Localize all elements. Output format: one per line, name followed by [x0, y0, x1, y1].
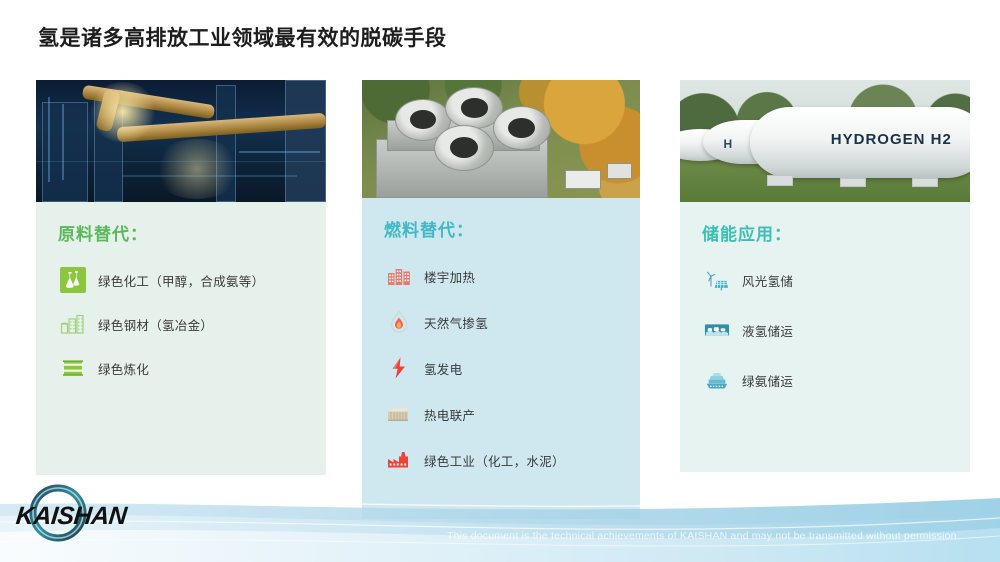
column-storage-application: H HYDROGEN H2 储能应用： — [680, 80, 970, 472]
list-item-label: 绿色工业（化工，水泥） — [424, 451, 565, 470]
kaishan-logo: KAISHAN — [6, 482, 156, 544]
cooling-tower-plant-photo — [362, 80, 640, 198]
list-item[interactable]: 绿色化工（甲醇，合成氨等） — [36, 267, 326, 293]
card-title: 燃料替代： — [362, 216, 640, 241]
tank-label-small: H — [724, 137, 734, 151]
list-item[interactable]: 天然气掺氢 — [362, 309, 640, 335]
flame-icon — [386, 309, 412, 335]
steel-plant-icon — [60, 311, 86, 337]
list-item[interactable]: 液氢储运 — [680, 317, 970, 343]
disclaimer-text: This document is the technical achieveme… — [447, 530, 957, 542]
list-item[interactable]: 热电联产 — [362, 401, 640, 427]
card-raw-material-substitution: 原料替代： 绿色化工（甲醇，合成氨等） — [36, 202, 326, 475]
industrial-refinery-night-photo — [36, 80, 326, 202]
hydrogen-storage-tanks-photo: H HYDROGEN H2 — [680, 80, 970, 202]
list-item[interactable]: 氢发电 — [362, 355, 640, 381]
list-item[interactable]: 楼宇加热 — [362, 263, 640, 289]
buildings-heating-icon — [386, 263, 412, 289]
flask-icon — [60, 267, 86, 293]
list-item-label: 绿氨储运 — [742, 371, 793, 390]
liquid-hydrogen-transport-icon — [704, 317, 730, 343]
chp-building-icon — [386, 401, 412, 427]
wind-solar-icon — [704, 267, 730, 293]
column-raw-material-substitution: 原料替代： 绿色化工（甲醇，合成氨等） — [36, 80, 326, 475]
column-fuel-substitution: 燃料替代： — [362, 80, 640, 519]
list-item-label: 天然气掺氢 — [424, 313, 488, 332]
list-item[interactable]: 绿氨储运 — [680, 367, 970, 393]
list-item-label: 绿色炼化 — [98, 359, 149, 378]
page-title: 氢是诸多高排放工业领域最有效的脱碳手段 — [38, 22, 447, 52]
list-item-label: 楼宇加热 — [424, 267, 475, 286]
list-item-label: 液氢储运 — [742, 321, 793, 340]
logo-wordmark: KAISHAN — [14, 502, 127, 531]
list-item[interactable]: 风光氢储 — [680, 267, 970, 293]
columns-container: 原料替代： 绿色化工（甲醇，合成氨等） — [0, 80, 1000, 480]
footer: KAISHAN This document is the technical a… — [0, 470, 1000, 562]
ship-icon — [704, 367, 730, 393]
card-storage-application: 储能应用： — [680, 202, 970, 472]
card-title: 储能应用： — [680, 220, 970, 245]
list-item-label: 绿色化工（甲醇，合成氨等） — [98, 271, 264, 290]
slide-root: 氢是诸多高排放工业领域最有效的脱碳手段 — [0, 0, 1000, 562]
card-title: 原料替代： — [36, 220, 326, 245]
list-item-label: 热电联产 — [424, 405, 475, 424]
list-item[interactable]: 绿色钢材（氢冶金） — [36, 311, 326, 337]
oil-barrel-icon — [60, 355, 86, 381]
list-item-label: 氢发电 — [424, 359, 462, 378]
list-item-label: 绿色钢材（氢冶金） — [98, 315, 213, 334]
tank-label: HYDROGEN H2 — [831, 131, 952, 148]
list-item-label: 风光氢储 — [742, 271, 793, 290]
list-item[interactable]: 绿色炼化 — [36, 355, 326, 381]
lightning-bolt-icon — [386, 355, 412, 381]
